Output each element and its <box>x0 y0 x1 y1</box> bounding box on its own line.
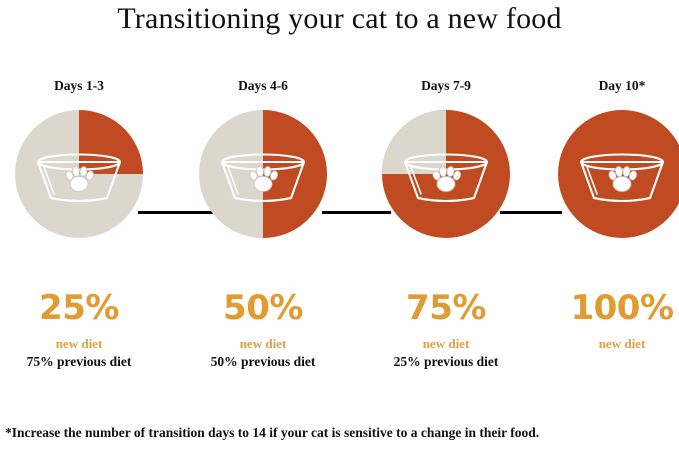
food-bowl-paw-icon <box>558 110 679 238</box>
pie-100-percent <box>558 110 679 238</box>
page-title: Transitioning your cat to a new food <box>0 2 679 36</box>
stage-new-diet-label: new diet <box>0 336 164 352</box>
stage-day-label: Days 7-9 <box>361 78 531 94</box>
stage-previous-diet-label: 25% previous diet <box>361 354 531 370</box>
stage-percent: 50% <box>178 291 348 325</box>
stage-previous-diet-label: 50% previous diet <box>178 354 348 370</box>
stage-day-label: Days 4-6 <box>178 78 348 94</box>
food-bowl-paw-icon <box>15 110 143 238</box>
stage-previous-diet-label: 75% previous diet <box>0 354 164 370</box>
food-bowl-paw-icon <box>382 110 510 238</box>
stage-percent: 75% <box>361 291 531 325</box>
stage-days-4-6: Days 4-6 <box>178 78 348 378</box>
infographic-page: Transitioning your cat to a new food Day… <box>0 0 679 457</box>
pie-50-percent <box>199 110 327 238</box>
stage-percent: 100% <box>537 291 679 325</box>
transition-timeline: Days 1-3 <box>0 78 679 378</box>
stage-new-diet-label: new diet <box>361 336 531 352</box>
stage-new-diet-label: new diet <box>537 336 679 352</box>
footnote-text: *Increase the number of transition days … <box>5 425 679 441</box>
connector-line-2 <box>322 211 391 214</box>
pie-75-percent <box>382 110 510 238</box>
stage-percent: 25% <box>0 291 164 325</box>
stage-day-10: Day 10* <box>537 78 679 378</box>
stage-new-diet-label: new diet <box>178 336 348 352</box>
pie-25-percent <box>15 110 143 238</box>
food-bowl-paw-icon <box>199 110 327 238</box>
stage-day-label: Day 10* <box>537 78 679 94</box>
stage-day-label: Days 1-3 <box>0 78 164 94</box>
stage-days-7-9: Days 7-9 <box>361 78 531 378</box>
stage-days-1-3: Days 1-3 <box>0 78 164 378</box>
